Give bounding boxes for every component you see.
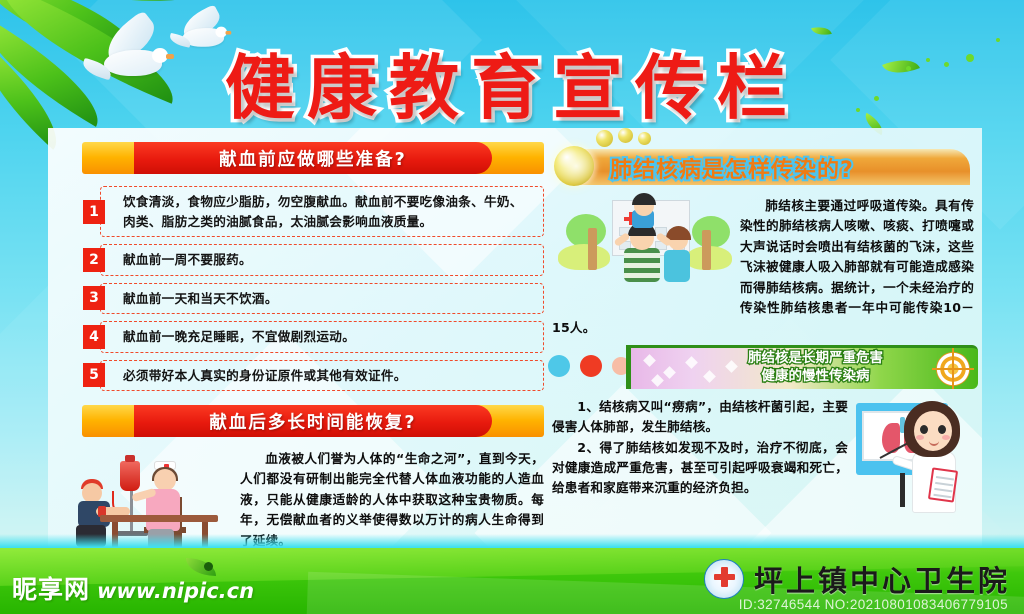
list-item: 3 献血前一天和当天不饮酒。 <box>100 283 544 315</box>
tb-harm-body: 1、结核病又叫“痨病”，由结核杆菌引起，主要侵害人体肺部，发生肺结核。 2、得了… <box>548 397 978 499</box>
item-text: 饮食清淡，食物应少脂肪，勿空腹献血。献血前不要吃像油条、牛奶、肉类、脂肪之类的油… <box>123 192 533 231</box>
heading-text: 献血前应做哪些准备? <box>219 146 407 171</box>
item-number: 2 <box>83 248 105 272</box>
list-item: 2 献血前一周不要服药。 <box>100 244 544 276</box>
item-number: 1 <box>83 200 105 224</box>
list-item: 5 必须带好本人真实的身份证原件或其他有效证件。 <box>100 360 544 392</box>
hospital-name: 坪上镇中心卫生院 <box>754 558 1010 600</box>
poster-canvas: 健康教育宣传栏 献血前应做哪些准备? 1 饮食清淡，食物应少脂肪，勿空腹献血。献… <box>0 0 1024 614</box>
heading-text: 献血后多长时间能恢复? <box>209 409 416 434</box>
content-panel: 献血前应做哪些准备? 1 饮食清淡，食物应少脂肪，勿空腹献血。献血前不要吃像油条… <box>48 128 982 570</box>
list-item: 1 饮食清淡，食物应少脂肪，勿空腹献血。献血前不要吃像油条、牛奶、肉类、脂肪之类… <box>100 186 544 237</box>
tb-transmission-body: 肺结核主要通过呼吸道传染。具有传染性的肺结核病人咳嗽、咳痰、打喷嚏或大声说话时会… <box>548 192 978 339</box>
banner-text: 肺结核是长期严重危害 健康的慢性传染病 <box>748 349 883 385</box>
section-heading-tb-transmission: 肺结核病是怎样传染的? <box>548 132 978 188</box>
page-title: 健康教育宣传栏 <box>0 32 1024 133</box>
hospital-signature: 坪上镇中心卫生院 <box>704 558 1010 600</box>
item-number: 3 <box>83 286 105 310</box>
item-text: 献血前一天和当天不饮酒。 <box>123 289 278 309</box>
item-text: 献血前一晚充足睡眠，不宜做剧烈运动。 <box>123 327 355 347</box>
target-icon <box>936 352 970 386</box>
banner-line-2: 健康的慢性传染病 <box>748 367 883 385</box>
watermark-brand: 昵享网 <box>12 570 90 606</box>
id-watermark: ID:32746544 NO:20210801083406779105 <box>739 597 1008 612</box>
list-item: 4 献血前一晚充足睡眠，不宜做剧烈运动。 <box>100 321 544 353</box>
section-heading-blood-prep: 献血前应做哪些准备? <box>82 142 544 174</box>
color-dots-decoration <box>548 355 635 377</box>
site-watermark: 昵享网 www.nipic.cn <box>12 570 254 606</box>
bubble-icon <box>638 132 651 145</box>
left-column: 献血前应做哪些准备? 1 饮食清淡，食物应少脂肪，勿空腹献血。献血前不要吃像油条… <box>82 142 544 570</box>
item-number: 5 <box>83 363 105 387</box>
bubble-icon <box>618 128 633 143</box>
item-number: 4 <box>83 325 105 349</box>
watermark-url: www.nipic.cn <box>97 579 254 603</box>
family-illustration <box>552 196 732 296</box>
doctor-illustration <box>856 397 974 527</box>
banner-line-1: 肺结核是长期严重危害 <box>748 349 883 367</box>
item-text: 献血前一周不要服药。 <box>123 250 252 270</box>
section-banner-tb-chronic: 肺结核是长期严重危害 健康的慢性传染病 <box>548 345 978 389</box>
right-column: 肺结核病是怎样传染的? <box>548 132 978 529</box>
section-heading-blood-recovery: 献血后多长时间能恢复? <box>82 405 544 437</box>
heading-text: 肺结核病是怎样传染的? <box>610 152 854 184</box>
item-text: 必须带好本人真实的身份证原件或其他有效证件。 <box>123 366 407 386</box>
hospital-logo-icon <box>704 559 744 599</box>
